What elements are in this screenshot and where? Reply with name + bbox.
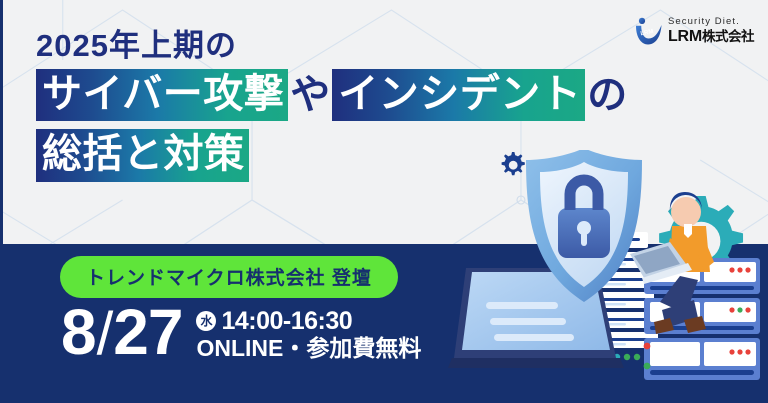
logo-company-name: LRM株式会社 bbox=[668, 29, 754, 45]
svg-text:LRM: LRM bbox=[640, 29, 654, 38]
event-day: 27 bbox=[113, 296, 182, 368]
speaker-badge: トレンドマイクロ株式会社 登壇 bbox=[60, 256, 398, 298]
event-date: 8/27 bbox=[61, 302, 182, 363]
headline-line-2-tail: の bbox=[585, 73, 629, 118]
headline-group: 2025年上期の サイバー攻撃やインシデントの 総括と対策 bbox=[36, 30, 629, 182]
headline-line-3: 総括と対策 bbox=[36, 129, 629, 182]
headline-highlight-summary: 総括と対策 bbox=[36, 129, 249, 182]
lrm-swoosh-logo-icon: LRM bbox=[633, 16, 663, 46]
logo-company-name-suffix: 株式会社 bbox=[702, 29, 754, 44]
weekday-chip: 水 bbox=[196, 311, 216, 331]
date-separator: / bbox=[96, 300, 114, 367]
headline-line-1: 2025年上期の bbox=[36, 30, 629, 63]
event-format: ONLINE・参加費無料 bbox=[196, 336, 421, 361]
logo-tagline: Security Diet. bbox=[668, 17, 754, 27]
event-month: 8 bbox=[61, 296, 96, 368]
security-illustration bbox=[448, 150, 768, 403]
event-time: 14:00-16:30 bbox=[221, 308, 352, 334]
headline-highlight-cyberattack: サイバー攻撃 bbox=[36, 69, 288, 122]
logo-company-name-main: LRM bbox=[668, 28, 702, 45]
headline-line-2: サイバー攻撃やインシデントの bbox=[36, 69, 629, 122]
event-time-row: 水 14:00-16:30 bbox=[196, 308, 421, 334]
event-date-block: 8/27 水 14:00-16:30 ONLINE・参加費無料 bbox=[61, 302, 421, 363]
webinar-banner: LRM Security Diet. LRM株式会社 2025年上期の サイバー… bbox=[0, 0, 768, 403]
headline-highlight-incident: インシデント bbox=[332, 69, 585, 122]
event-time-group: 水 14:00-16:30 ONLINE・参加費無料 bbox=[196, 308, 421, 362]
headline-conjunction: や bbox=[288, 73, 332, 118]
lrm-logo: LRM Security Diet. LRM株式会社 bbox=[633, 16, 754, 46]
logo-text-group: Security Diet. LRM株式会社 bbox=[668, 17, 754, 45]
